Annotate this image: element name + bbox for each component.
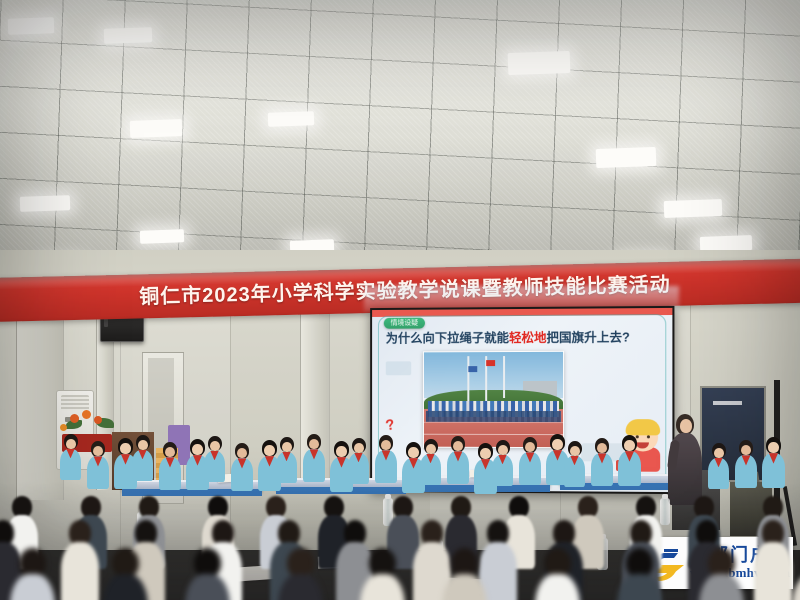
student-face [570, 446, 580, 456]
slide-decoration [386, 361, 411, 375]
student-face [336, 446, 347, 457]
ceiling-lamp [140, 229, 184, 244]
slide-title-prefix: 为什么向下拉绳子就能 [386, 331, 509, 346]
ceiling-lamp [664, 199, 723, 218]
student-face [264, 445, 275, 456]
audience-torso [61, 542, 99, 600]
student-face [498, 445, 508, 455]
slide-title-suffix: 把国旗升上去? [547, 330, 630, 344]
student-face [480, 448, 491, 459]
slide-title-highlight: 轻松地 [509, 331, 546, 345]
presenter-face [680, 419, 692, 433]
student-face [282, 442, 292, 452]
student-face [426, 444, 436, 454]
student-face [120, 443, 131, 454]
cartoon-hair [626, 419, 661, 435]
flower-bloom [82, 410, 91, 419]
ceiling-lamp [104, 27, 152, 44]
student-face [768, 442, 779, 453]
flag-ceremony-photo [423, 351, 564, 448]
flower-bloom [60, 424, 67, 431]
flower-bloom [70, 414, 79, 423]
student-face [66, 439, 76, 449]
student-face [210, 441, 220, 451]
photo-student-rows [426, 411, 561, 423]
ceiling-lamp [130, 119, 183, 138]
flower-bloom [94, 416, 102, 424]
photo-scene: 铜仁市2023年小学科学实验教学说课暨教师技能比赛活动 情境设疑 为什么向下拉绳… [0, 0, 800, 600]
ceiling-lamp [508, 51, 571, 75]
ceiling-lamp [8, 17, 55, 35]
photo-flagpole [467, 356, 468, 401]
student-face [624, 440, 635, 451]
photo-flag-icon [468, 366, 477, 372]
photo-flag-icon [486, 360, 495, 366]
ac-vent [61, 395, 89, 411]
ceiling-lamp [596, 147, 657, 168]
ceiling-lamp [268, 111, 314, 127]
student-face [408, 447, 419, 458]
board-glare [713, 401, 742, 405]
cartoon-eye [647, 435, 650, 438]
ceiling-lamp [20, 195, 70, 212]
slide-section-tag: 情境设疑 [384, 318, 425, 329]
student-face [138, 440, 148, 450]
student-face [192, 444, 203, 455]
cartoon-eye [636, 435, 639, 438]
student-face [354, 443, 364, 453]
slide-title: 为什么向下拉绳子就能轻松地把国旗升上去? [386, 330, 660, 345]
student-face [552, 439, 563, 450]
student-face [714, 448, 724, 458]
photo-flagpole [503, 356, 504, 398]
audience-torso [754, 542, 792, 600]
